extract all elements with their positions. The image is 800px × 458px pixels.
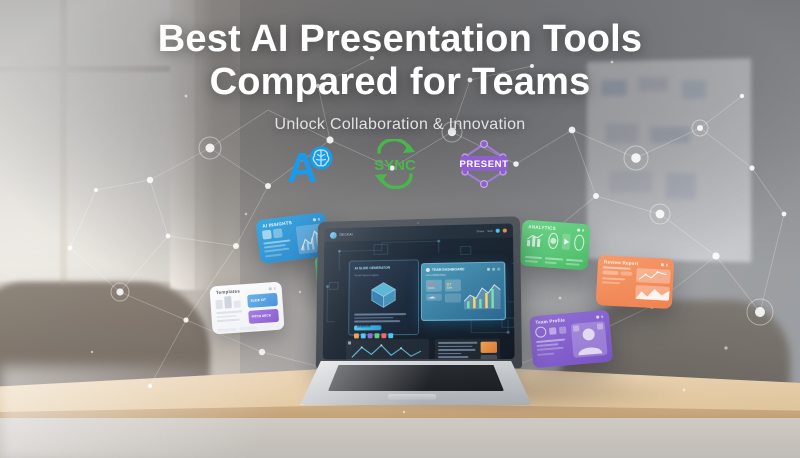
card-tile-blue[interactable]: SLIDE KIT — [247, 293, 278, 308]
card-title: Review Report — [604, 259, 639, 266]
badge-present[interactable]: PRESENT — [453, 138, 515, 190]
laptop-trackpad[interactable] — [388, 394, 436, 400]
laptop-screen[interactable]: DECKAI Share Edit — [323, 223, 515, 359]
generate-button[interactable]: GENERATE — [354, 325, 381, 330]
panel-title: AI SLIDE GENERATOR — [355, 265, 414, 271]
screen-panel-trend[interactable] — [346, 339, 429, 360]
card-title: ANALYTICS — [528, 224, 556, 231]
panel-subtitle: Smart layout engine — [354, 272, 413, 277]
stat-label: Edits — [447, 286, 459, 289]
laptop-lid: DECKAI Share Edit — [316, 216, 522, 368]
card-circle-icon — [574, 234, 585, 251]
floating-card-orange[interactable]: Review Report — [596, 255, 675, 309]
stat-tile — [445, 293, 461, 302]
badge-sync-label: SYNC — [374, 157, 416, 174]
person-icon — [571, 321, 608, 358]
card-donut-icon — [548, 233, 559, 250]
laptop-keyboard[interactable] — [328, 365, 504, 391]
card-play-icon[interactable] — [561, 233, 571, 250]
webcam-icon — [417, 222, 419, 224]
card-line-chart — [636, 268, 671, 284]
feature-badge-row: A — [0, 138, 800, 190]
trend-line-chart — [346, 339, 429, 360]
panel-icon — [426, 268, 430, 272]
thumbnail — [481, 355, 497, 360]
desk-front-shadow — [0, 418, 800, 458]
page-subtitle: Unlock Collaboration & Innovation — [0, 116, 800, 134]
cube-icon — [369, 280, 398, 310]
card-area-chart — [635, 285, 670, 301]
page-title: Best AI Presentation Tools Compared for … — [0, 18, 800, 104]
card-dots — [596, 315, 603, 318]
panel-subtitle: Live collaboration — [426, 273, 500, 277]
circular-arrows-icon: SYNC — [365, 139, 425, 189]
badge-ai-brain[interactable]: A — [285, 138, 337, 190]
tile-label: PITCH DECK — [251, 313, 271, 318]
laptop: DECKAI Share Edit — [300, 218, 532, 403]
panel-controls[interactable] — [487, 267, 500, 270]
floating-card-white[interactable]: Templates SLIDE KIT P — [209, 282, 284, 335]
badge-sync[interactable]: SYNC — [365, 138, 425, 190]
card-dots — [577, 229, 584, 232]
card-title: Templates — [216, 288, 240, 295]
brain-icon: A — [285, 140, 337, 188]
screen-panel-ai-generator[interactable]: AI SLIDE GENERATOR Smart layout engine — [348, 259, 419, 335]
screen-panel-notes[interactable] — [435, 339, 500, 360]
badge-present-label: PRESENT — [459, 159, 508, 170]
network-node-icon: PRESENT — [453, 139, 515, 189]
dashboard-chart — [464, 279, 501, 310]
hero-text-block: Best AI Presentation Tools Compared for … — [0, 18, 800, 134]
thumbnail — [481, 342, 497, 353]
stat-tile: 87 Edits — [445, 279, 461, 291]
stat-tile: ▁▃▅▂ — [426, 294, 442, 301]
stat-tile: 124 Decks — [426, 280, 442, 292]
card-tile-purple[interactable]: PITCH DECK — [248, 309, 279, 324]
screen-panel-dashboard[interactable]: TEAM DASHBOARD Live collaboration 124 — [421, 262, 506, 321]
card-dots — [269, 287, 276, 290]
swatch-row — [354, 333, 413, 338]
stat-label: Decks — [428, 287, 440, 290]
card-dots — [661, 264, 668, 267]
tile-label: SLIDE KIT — [250, 298, 266, 303]
floating-card-purple[interactable]: Team Profile — [529, 310, 613, 369]
hero-banner: Best AI Presentation Tools Compared for … — [0, 0, 800, 458]
title-line-1: Best AI Presentation Tools — [158, 18, 643, 60]
avatar — [535, 326, 547, 338]
generate-button-label: GENERATE — [357, 326, 371, 329]
title-line-2: Compared for Teams — [210, 61, 591, 103]
panel-title: TEAM DASHBOARD — [432, 267, 465, 272]
